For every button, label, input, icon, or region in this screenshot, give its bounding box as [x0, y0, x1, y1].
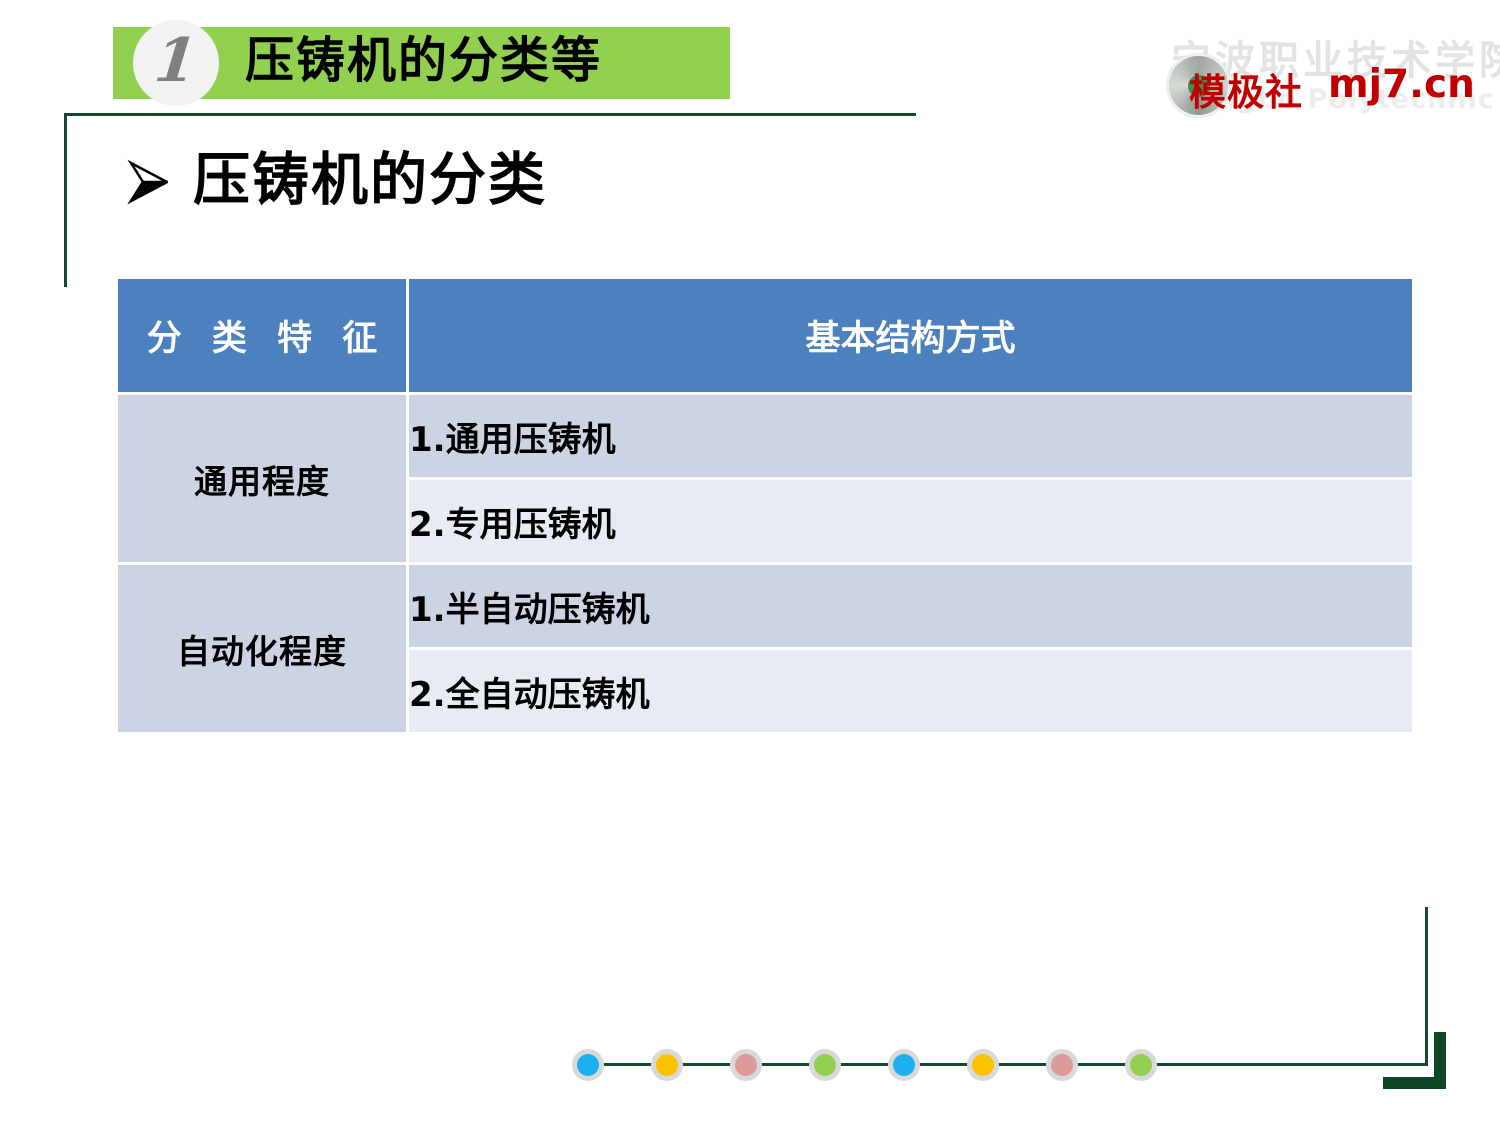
slide-canvas: 1 压铸机的分类等 宁波职业技术学院 Ningbo Polytechnic 模极… — [0, 0, 1500, 1125]
corner-bracket-horizontal — [1383, 1077, 1446, 1089]
bottom-decor-line — [592, 1063, 1428, 1066]
decor-dot — [888, 1049, 920, 1081]
decor-dot — [1046, 1049, 1078, 1081]
value-cell: 1.通用压铸机 — [409, 392, 1412, 477]
table-header-row: 分 类 特 征 基本结构方式 — [118, 279, 1412, 392]
section-number-label: 1 — [152, 31, 200, 91]
brand-name-cn: 模极社 — [1189, 62, 1303, 116]
logo-area: 宁波职业技术学院 Ningbo Polytechnic 模极社 mj7.cn — [1113, 22, 1500, 144]
decor-dot — [1125, 1049, 1157, 1081]
decor-dot-core — [577, 1054, 599, 1076]
frame-horizontal-rule — [64, 113, 916, 116]
frame-vertical-rule — [64, 113, 67, 287]
decor-dot — [730, 1049, 762, 1081]
decor-dot — [967, 1049, 999, 1081]
decor-dot-core — [1130, 1054, 1152, 1076]
decor-dot-core — [972, 1054, 994, 1076]
table-row: 自动化程度 1.半自动压铸机 — [118, 562, 1412, 647]
table-body: 通用程度 1.通用压铸机 2.专用压铸机 自动化程度 1.半自动压铸机 2.全自… — [118, 392, 1412, 732]
section-number-badge: 1 — [133, 20, 219, 106]
section-title: 压铸机的分类等 — [245, 36, 602, 85]
value-cell: 1.半自动压铸机 — [409, 562, 1412, 647]
classification-table: 分 类 特 征 基本结构方式 通用程度 1.通用压铸机 2.专用压铸机 自动化程… — [118, 279, 1412, 732]
table-header-feature: 分 类 特 征 — [118, 279, 409, 392]
corner-bracket-vertical — [1434, 1032, 1446, 1077]
value-cell: 2.专用压铸机 — [409, 477, 1412, 562]
feature-cell-general-level: 通用程度 — [118, 392, 409, 562]
decor-dot — [572, 1049, 604, 1081]
feature-cell-automation-level: 自动化程度 — [118, 562, 409, 732]
decor-dot-core — [1051, 1054, 1073, 1076]
decor-dot-core — [656, 1054, 678, 1076]
decor-dot-core — [893, 1054, 915, 1076]
brand-url: mj7.cn — [1328, 62, 1475, 107]
decor-dot — [651, 1049, 683, 1081]
bottom-decor-vertical-line — [1425, 907, 1428, 1066]
decor-dot — [809, 1049, 841, 1081]
decor-dot-core — [735, 1054, 757, 1076]
table-header-structure: 基本结构方式 — [409, 279, 1412, 392]
bullet-heading-row: 压铸机的分类 — [124, 152, 547, 209]
bullet-heading-label: 压铸机的分类 — [193, 152, 547, 209]
table-row: 通用程度 1.通用压铸机 — [118, 392, 1412, 477]
value-cell: 2.全自动压铸机 — [409, 647, 1412, 732]
table-head: 分 类 特 征 基本结构方式 — [118, 279, 1412, 392]
decor-dot-core — [814, 1054, 836, 1076]
arrow-bullet-icon — [124, 157, 168, 205]
